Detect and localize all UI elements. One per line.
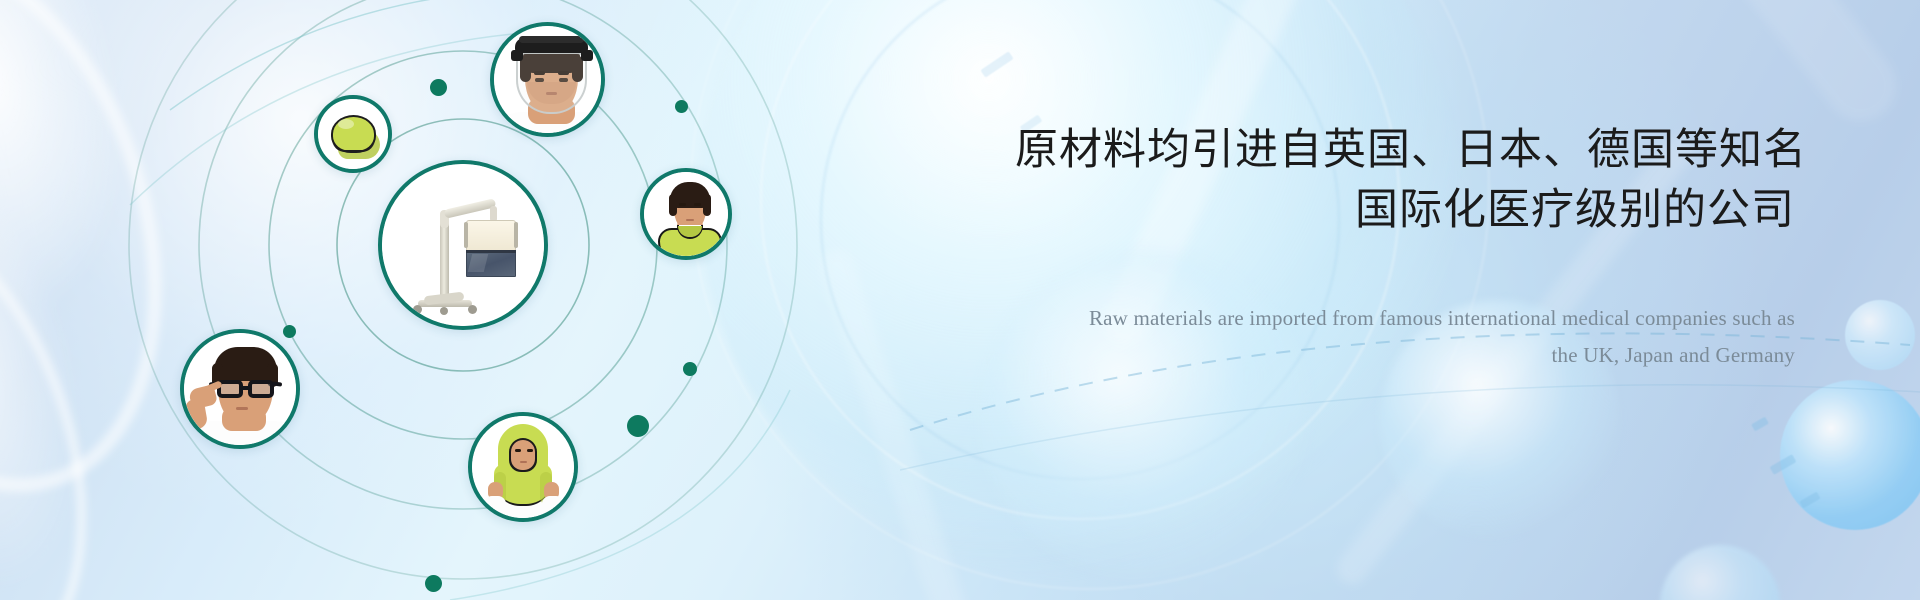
orbit-node-dot-6 [425,575,442,592]
photo-woman-wearing-lime-protection-hood [472,416,574,518]
headline-line-2: 国际化医疗级别的公司 [1015,180,1795,240]
photo-man-wearing-radiation-face-shield [494,26,601,133]
product-bubble-protective-hood[interactable] [468,412,578,522]
product-bubble-thyroid-collar[interactable] [640,168,732,260]
orbit-node-dot-5 [627,415,649,437]
photo-man-wearing-radiation-glasses [184,333,296,445]
orbit-node-dot-1 [430,79,447,96]
headline-line-1: 原材料均引进自英国、日本、德国等知名 [1015,120,1795,180]
orbit-node-dot-4 [683,362,697,376]
photo-woman-wearing-lime-thyroid-collar [644,172,728,256]
subtitle-line-2: the UK, Japan and Germany [1055,337,1795,374]
subtitle-block: Raw materials are imported from famous i… [1055,300,1795,374]
photo-mobile-radiation-shield-on-stand [382,164,544,326]
product-bubble-protective-cap[interactable] [314,95,392,173]
product-orbit-diagram [150,0,950,600]
subtitle-line-1: Raw materials are imported from famous i… [1055,300,1795,337]
product-bubble-lead-glasses[interactable] [180,329,300,449]
product-bubble-face-shield[interactable] [490,22,605,137]
product-bubble-mobile-shield[interactable] [378,160,548,330]
orbit-node-dot-3 [283,325,296,338]
photo-lime-radiation-protection-cap [318,99,388,169]
headline-block: 原材料均引进自英国、日本、德国等知名 国际化医疗级别的公司 [1015,120,1795,240]
orbit-node-dot-2 [675,100,688,113]
hero-banner: 原材料均引进自英国、日本、德国等知名 国际化医疗级别的公司 Raw materi… [0,0,1920,600]
